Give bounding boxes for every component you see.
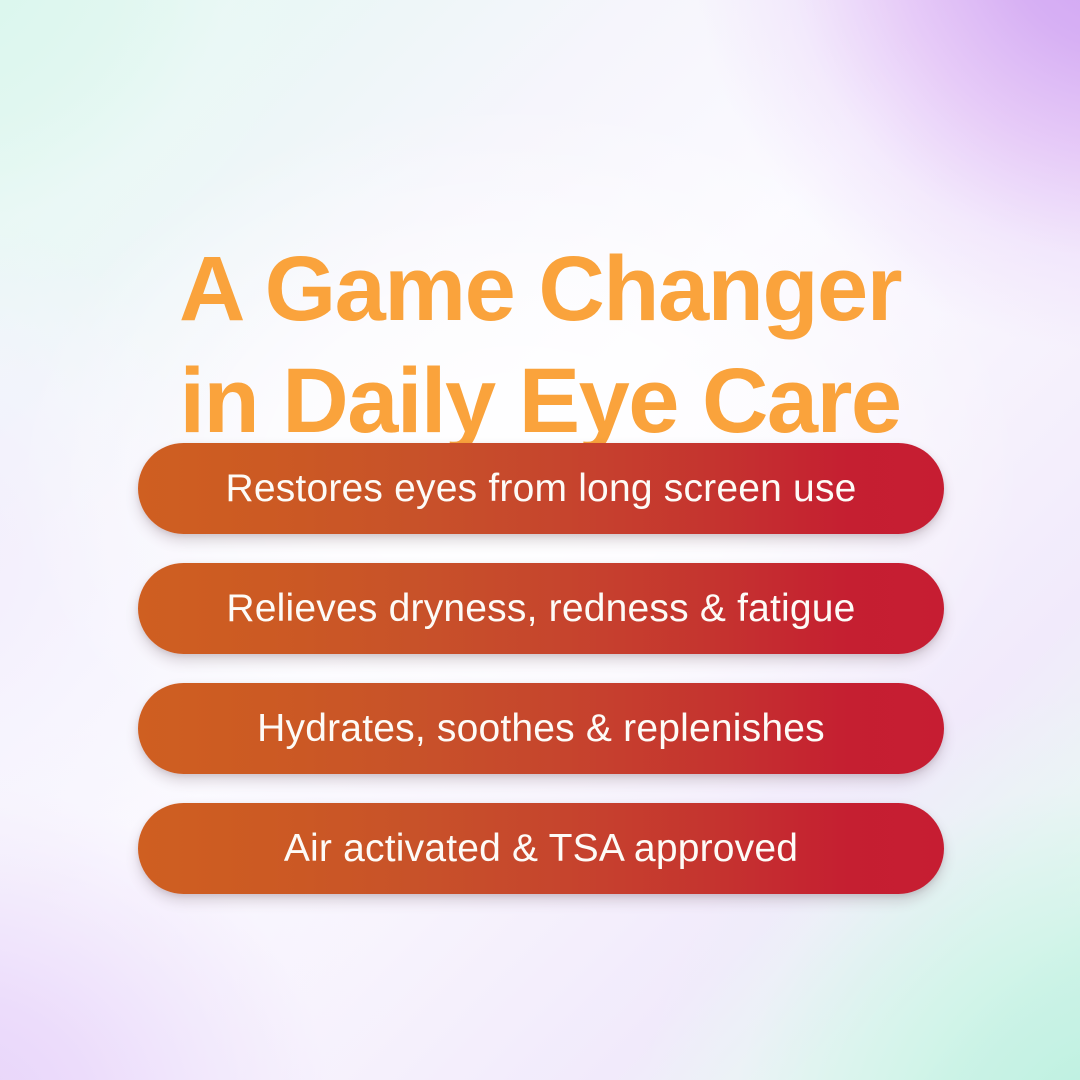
poster-content: A Game Changer in Daily Eye Care Restore… <box>0 0 1080 1080</box>
benefit-pill-list: Restores eyes from long screen use Relie… <box>138 443 944 894</box>
page-title: A Game Changer in Daily Eye Care <box>0 233 1080 457</box>
headline-line-1: A Game Changer <box>0 233 1080 345</box>
benefit-pill-label: Relieves dryness, redness & fatigue <box>192 589 889 628</box>
benefit-pill-label: Hydrates, soothes & replenishes <box>223 709 859 748</box>
headline-line-2: in Daily Eye Care <box>0 345 1080 457</box>
benefit-pill-label: Air activated & TSA approved <box>250 829 832 868</box>
promo-poster: A Game Changer in Daily Eye Care Restore… <box>0 0 1080 1080</box>
benefit-pill-label: Restores eyes from long screen use <box>191 469 890 508</box>
benefit-pill-2: Relieves dryness, redness & fatigue <box>138 563 944 654</box>
benefit-pill-4: Air activated & TSA approved <box>138 803 944 894</box>
benefit-pill-1: Restores eyes from long screen use <box>138 443 944 534</box>
benefit-pill-3: Hydrates, soothes & replenishes <box>138 683 944 774</box>
